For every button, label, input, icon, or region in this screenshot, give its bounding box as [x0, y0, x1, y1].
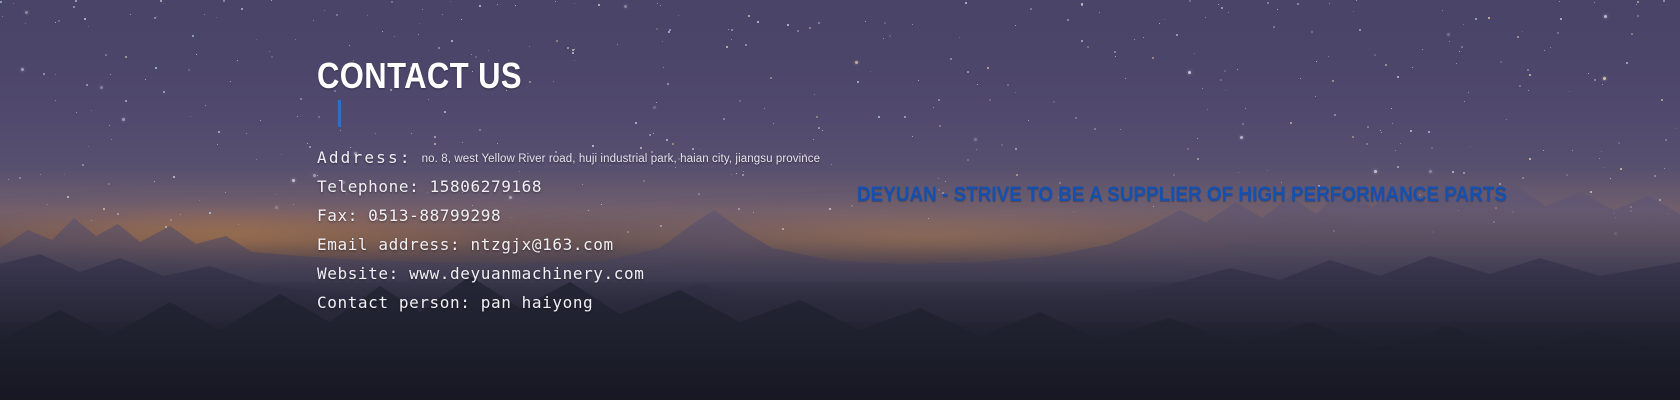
title-accent-bar [338, 100, 341, 127]
page-title: CONTACT US [317, 58, 522, 94]
email-label: Email address: [317, 235, 460, 254]
telephone-label: Telephone: [317, 177, 419, 196]
contact-details-list: Address:no. 8, west Yellow River road, h… [317, 143, 937, 317]
contact-person-label: Contact person: [317, 293, 471, 312]
contact-row-fax: Fax: 0513-88799298 [317, 201, 937, 230]
company-slogan: DEYUAN - STRIVE TO BE A SUPPLIER OF HIGH… [857, 184, 1507, 205]
fax-label: Fax: [317, 206, 358, 225]
contact-person-value: pan haiyong [481, 293, 594, 312]
contact-row-email: Email address: ntzgjx@163.com [317, 230, 937, 259]
fax-value: 0513-88799298 [368, 206, 501, 225]
address-label: Address: [317, 148, 412, 167]
email-value[interactable]: ntzgjx@163.com [471, 235, 614, 254]
banner-content: CONTACT US Address:no. 8, west Yellow Ri… [0, 0, 1680, 400]
contact-row-person: Contact person: pan haiyong [317, 288, 937, 317]
contact-us-banner: CONTACT US Address:no. 8, west Yellow Ri… [0, 0, 1680, 400]
website-label: Website: [317, 264, 399, 283]
telephone-value[interactable]: 15806279168 [430, 177, 543, 196]
contact-row-website: Website: www.deyuanmachinery.com [317, 259, 937, 288]
address-value: no. 8, west Yellow River road, huji indu… [422, 153, 820, 165]
contact-row-telephone: Telephone: 15806279168 [317, 172, 937, 201]
website-value[interactable]: www.deyuanmachinery.com [409, 264, 644, 283]
contact-row-address: Address:no. 8, west Yellow River road, h… [317, 143, 937, 172]
